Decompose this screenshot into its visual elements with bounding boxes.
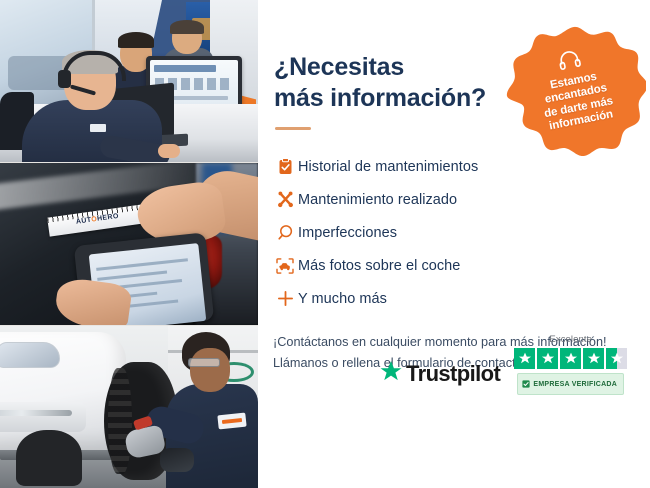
work-glove-right — [160, 448, 194, 472]
feature-label: Mantenimiento realizado — [298, 192, 457, 208]
vehicle-inspection-photo: AUTOHERO — [0, 163, 258, 324]
trustpilot-star-icon — [380, 361, 402, 387]
badge-text: Estamos encantados de darte más informac… — [538, 69, 616, 134]
tools-wrench-screwdriver-icon — [272, 191, 298, 208]
bumper-chrome-trim — [0, 410, 72, 416]
feature-label: Imperfecciones — [298, 225, 397, 241]
feature-item-imperfecciones: Imperfecciones — [272, 216, 650, 249]
check-square-icon — [522, 375, 530, 393]
badge-line-2: encantados — [541, 82, 612, 108]
clipboard-check-icon — [272, 158, 298, 175]
badge-line-4: información — [546, 107, 617, 133]
page-title: ¿Necesitas más información? — [274, 52, 524, 113]
contact-promo-card: AUTOHERO — [0, 0, 650, 488]
trustpilot-stars — [514, 348, 627, 369]
feature-label: Historial de mantenimientos — [298, 159, 478, 175]
foreground-agent — [22, 52, 154, 162]
badge-line-1: Estamos — [538, 69, 609, 95]
content-panel: ¿Necesitas más información? Historial de… — [258, 0, 650, 488]
verified-label: EMPRESA VERIFICADA — [533, 381, 617, 388]
feature-item-mas: Y mucho más — [272, 282, 650, 315]
badge-line-3: de darte más — [543, 95, 614, 121]
trustpilot-rating-label: Excelente — [549, 334, 592, 345]
mechanic — [164, 332, 258, 488]
trustpilot-rating-block[interactable]: Trustpilot Excelente — [380, 334, 627, 395]
rear-wheel — [16, 430, 82, 486]
feature-item-historial: Historial de mantenimientos — [272, 150, 650, 183]
page-title-line-2: más información? — [274, 84, 486, 112]
star-icon — [583, 348, 604, 369]
headset-icon — [557, 49, 583, 77]
photo-column: AUTOHERO — [0, 0, 258, 488]
trustpilot-score: Excelente — [514, 334, 627, 395]
car-headlight — [0, 342, 60, 368]
trustpilot-logo[interactable]: Trustpilot — [380, 361, 500, 395]
feature-list: Historial de mantenimientos Mantenimient… — [258, 150, 650, 315]
safety-glasses — [188, 358, 220, 367]
call-center-agents-photo — [0, 0, 258, 162]
magnifier-icon — [272, 224, 298, 241]
feature-label: Y mucho más — [298, 291, 387, 307]
feature-item-mantenimiento: Mantenimiento realizado — [272, 183, 650, 216]
title-underline-rule — [275, 127, 311, 130]
car-scan-icon — [272, 258, 298, 274]
star-icon — [514, 348, 535, 369]
mechanic-wheel-photo — [0, 326, 258, 488]
feature-label: Más fotos sobre el coche — [298, 258, 460, 274]
trustpilot-wordmark: Trustpilot — [406, 361, 500, 387]
status-badge-verified-company: EMPRESA VERIFICADA — [517, 373, 624, 395]
feature-item-fotos: Más fotos sobre el coche — [272, 249, 650, 282]
star-icon-half — [606, 348, 627, 369]
star-icon — [560, 348, 581, 369]
starburst-badge: Estamos encantados de darte más informac… — [504, 24, 646, 154]
car-bumper — [0, 402, 86, 432]
uniform-logo — [217, 412, 246, 429]
starburst-shape — [504, 24, 646, 166]
star-icon — [537, 348, 558, 369]
plus-icon — [272, 290, 298, 307]
page-title-line-1: ¿Necesitas — [274, 53, 404, 81]
